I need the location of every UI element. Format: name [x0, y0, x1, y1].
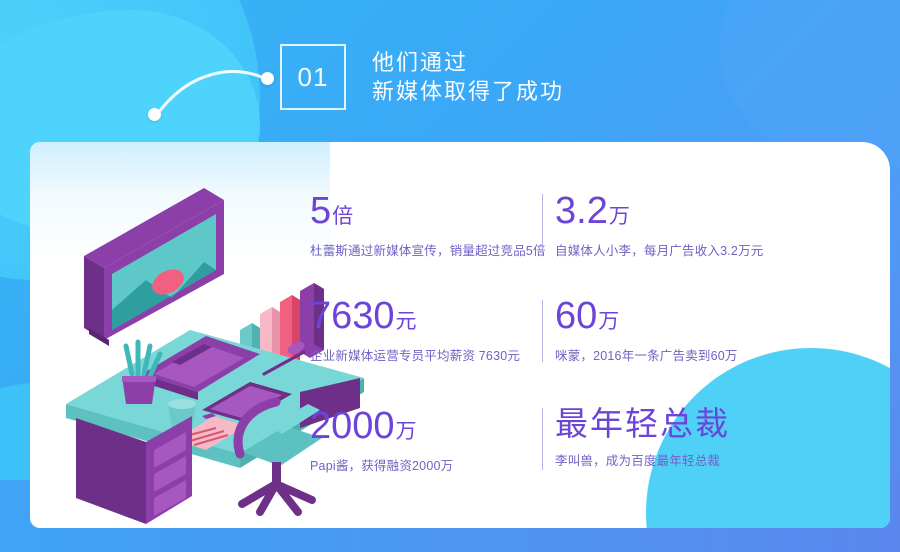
stat-value-main-5: 2000 — [310, 405, 395, 447]
section-number: 01 — [298, 62, 329, 93]
header-title-line2: 新媒体取得了成功 — [372, 77, 564, 106]
column-divider-row2 — [542, 300, 543, 362]
stat-value-unit-2: 万 — [609, 205, 630, 228]
stat-value-main-2: 3.2 — [555, 190, 608, 232]
header-title-line1: 他们通过 — [372, 48, 564, 77]
stat-value-6: 最年轻总裁 — [555, 407, 855, 440]
stat-value-4: 60万 — [555, 297, 855, 335]
stat-item-4: 60万 咪蒙，2016年一条广告卖到60万 — [555, 297, 855, 364]
content-card: 5倍 杜蕾斯通过新媒体宣传，销量超过竞品5倍 3.2万 自媒体人小李，每月广告收… — [30, 142, 890, 528]
stat-value-main-3: 7630 — [310, 295, 395, 337]
section-number-box: 01 — [280, 44, 346, 110]
slide-root: 01 他们通过 新媒体取得了成功 — [0, 0, 900, 552]
stat-value-unit-1: 倍 — [332, 205, 353, 228]
stat-item-6: 最年轻总裁 李叫兽，成为百度最年轻总裁 — [555, 407, 855, 469]
stat-value-unit-4: 万 — [598, 310, 619, 333]
stat-value-unit-3: 元 — [396, 310, 417, 333]
column-divider-row3 — [542, 408, 543, 470]
arc-dot-right — [261, 72, 274, 85]
stat-item-2: 3.2万 自媒体人小李，每月广告收入3.2万元 — [555, 192, 855, 259]
stat-value-unit-5: 万 — [396, 420, 417, 443]
stat-desc-4: 咪蒙，2016年一条广告卖到60万 — [555, 345, 855, 364]
stat-value-main-4: 60 — [555, 295, 597, 337]
stat-value-main-1: 5 — [310, 190, 331, 232]
header-title-group: 他们通过 新媒体取得了成功 — [372, 48, 564, 106]
column-divider-row1 — [542, 194, 543, 256]
arc-dot-left — [148, 108, 161, 121]
stat-desc-2: 自媒体人小李，每月广告收入3.2万元 — [555, 240, 855, 259]
stat-value-2: 3.2万 — [555, 192, 855, 230]
slide-header: 01 他们通过 新媒体取得了成功 — [280, 44, 564, 110]
stat-desc-6: 李叫兽，成为百度最年轻总裁 — [555, 450, 855, 469]
stats-grid: 5倍 杜蕾斯通过新媒体宣传，销量超过竞品5倍 3.2万 自媒体人小李，每月广告收… — [30, 142, 890, 528]
stat-value-main-6: 最年轻总裁 — [555, 405, 730, 442]
